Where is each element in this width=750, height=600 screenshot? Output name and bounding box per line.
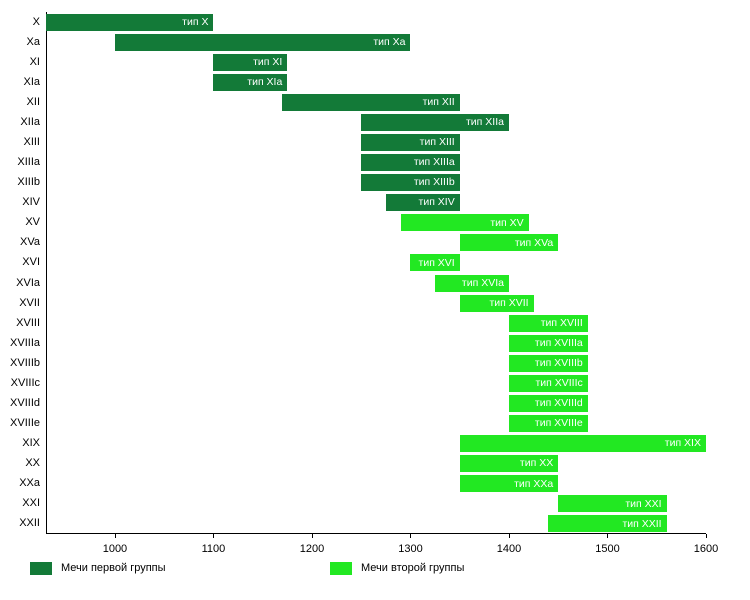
bar-label-XVIIIc: тип XVIIIc	[535, 378, 582, 389]
y-axis-label-XVIIId: XVIIId	[10, 398, 40, 409]
y-axis-label-XIII: XIII	[23, 137, 40, 148]
bar-label-XVIIIb: тип XVIIIb	[535, 358, 583, 369]
bar-label-XXII: тип XXII	[622, 519, 661, 530]
x-tick-mark-1000	[115, 534, 116, 538]
y-axis-label-X: X	[33, 17, 40, 28]
bar-XX[interactable]: тип XX	[460, 455, 559, 472]
bar-Xa[interactable]: тип Xa	[115, 34, 411, 51]
bar-label-XIV: тип XIV	[419, 197, 455, 208]
x-tick-label-1100: 1100	[193, 544, 233, 555]
chart-legend: Мечи первой группы Мечи второй группы	[0, 556, 750, 580]
bar-label-XII: тип XII	[423, 97, 455, 108]
legend-swatch-first-group	[30, 562, 52, 575]
y-axis-label-XVIIIa: XVIIIa	[10, 338, 40, 349]
x-tick-label-1600: 1600	[686, 544, 726, 555]
bar-XVII[interactable]: тип XVII	[460, 295, 534, 312]
bar-XV[interactable]: тип XV	[401, 214, 529, 231]
bar-X[interactable]: тип X	[46, 14, 213, 31]
x-tick-mark-1400	[509, 534, 510, 538]
x-tick-label-1300: 1300	[390, 544, 430, 555]
y-axis-label-XVIa: XVIa	[16, 278, 40, 289]
bar-label-XVIIIa: тип XVIIIa	[535, 338, 583, 349]
bar-label-XIX: тип XIX	[665, 438, 701, 449]
y-axis-label-XIa: XIa	[23, 77, 40, 88]
bar-XVIIIb[interactable]: тип XVIIIb	[509, 355, 588, 372]
y-axis-label-XVIIIe: XVIIIe	[10, 418, 40, 429]
bar-label-XIIIa: тип XIIIa	[414, 157, 455, 168]
bar-label-XI: тип XI	[253, 57, 282, 68]
y-axis-label-XII: XII	[27, 97, 40, 108]
y-axis-label-XXa: XXa	[19, 478, 40, 489]
legend-label-first-group: Мечи первой группы	[61, 563, 166, 574]
y-axis-label-XVIII: XVIII	[16, 318, 40, 329]
y-axis-label-XVIIIb: XVIIIb	[10, 358, 40, 369]
y-axis-label-XVa: XVa	[20, 237, 40, 248]
bar-XIII[interactable]: тип XIII	[361, 134, 460, 151]
bar-XVIa[interactable]: тип XVIa	[435, 275, 509, 292]
bar-label-XVIIIe: тип XVIIIe	[535, 418, 583, 429]
legend-item-0: Мечи первой группы	[30, 560, 166, 576]
bar-XIV[interactable]: тип XIV	[386, 194, 460, 211]
gantt-chart: XXaXIXIaXIIXIIaXIIIXIIIaXIIIbXIVXVXVaXVI…	[0, 0, 750, 600]
y-axis-label-XIIIb: XIIIb	[17, 177, 40, 188]
x-tick-label-1200: 1200	[292, 544, 332, 555]
bar-XVIII[interactable]: тип XVIII	[509, 315, 588, 332]
legend-item-1: Мечи второй группы	[330, 560, 464, 576]
x-tick-label-1500: 1500	[587, 544, 627, 555]
bar-XIX[interactable]: тип XIX	[460, 435, 706, 452]
y-axis-label-XIV: XIV	[22, 197, 40, 208]
y-axis-label-XIX: XIX	[22, 438, 40, 449]
y-axis-label-XV: XV	[25, 217, 40, 228]
bar-label-XVI: тип XVI	[419, 258, 455, 269]
bar-XVIIIc[interactable]: тип XVIIIc	[509, 375, 588, 392]
bar-label-XXI: тип XXI	[625, 499, 661, 510]
bar-label-XIIIb: тип XIIIb	[414, 177, 455, 188]
bar-XI[interactable]: тип XI	[213, 54, 287, 71]
bar-XVIIIe[interactable]: тип XVIIIe	[509, 415, 588, 432]
bar-label-XVIIId: тип XVIIId	[535, 398, 583, 409]
bar-XXII[interactable]: тип XXII	[548, 515, 666, 532]
legend-label-second-group: Мечи второй группы	[361, 563, 464, 574]
y-axis-label-XVII: XVII	[19, 298, 40, 309]
x-tick-label-1000: 1000	[95, 544, 135, 555]
bar-label-XXa: тип XXa	[514, 479, 553, 490]
y-axis-label-XX: XX	[25, 458, 40, 469]
bar-label-XVII: тип XVII	[489, 298, 528, 309]
bar-label-XIa: тип XIa	[247, 77, 282, 88]
y-axis-label-XVIIIc: XVIIIc	[11, 378, 40, 389]
y-axis-label-XI: XI	[30, 57, 40, 68]
bar-label-XV: тип XV	[490, 218, 523, 229]
bar-XVIIId[interactable]: тип XVIIId	[509, 395, 588, 412]
bar-XIIIa[interactable]: тип XIIIa	[361, 154, 460, 171]
bar-XIa[interactable]: тип XIa	[213, 74, 287, 91]
bar-label-XVIII: тип XVIII	[541, 318, 583, 329]
y-axis-label-XIIIa: XIIIa	[17, 157, 40, 168]
bar-label-X: тип X	[182, 17, 208, 28]
x-tick-mark-1100	[213, 534, 214, 538]
y-axis-label-XIIa: XIIa	[20, 117, 40, 128]
x-tick-mark-1200	[312, 534, 313, 538]
bar-label-XVIa: тип XVIa	[462, 278, 504, 289]
bar-label-XIII: тип XIII	[420, 137, 455, 148]
bar-XXI[interactable]: тип XXI	[558, 495, 666, 512]
y-axis-category-labels: XXaXIXIaXIIXIIaXIIIXIIIaXIIIbXIVXVXVaXVI…	[0, 12, 44, 534]
plot-area: тип Xтип Xaтип XIтип XIaтип XIIтип XIIaт…	[46, 12, 706, 534]
bar-XIIa[interactable]: тип XIIa	[361, 114, 509, 131]
y-axis-line	[46, 12, 47, 534]
bar-label-XIIa: тип XIIa	[466, 117, 504, 128]
x-tick-label-1400: 1400	[489, 544, 529, 555]
x-tick-mark-1500	[607, 534, 608, 538]
x-tick-mark-1300	[410, 534, 411, 538]
y-axis-label-XXII: XXII	[19, 518, 40, 529]
bar-label-Xa: тип Xa	[373, 37, 405, 48]
bar-XVa[interactable]: тип XVa	[460, 234, 559, 251]
y-axis-label-XXI: XXI	[22, 498, 40, 509]
legend-swatch-second-group	[330, 562, 352, 575]
bar-XII[interactable]: тип XII	[282, 94, 459, 111]
bar-XVIIIa[interactable]: тип XVIIIa	[509, 335, 588, 352]
bar-label-XVa: тип XVa	[515, 238, 553, 249]
y-axis-label-XVI: XVI	[22, 257, 40, 268]
bar-XIIIb[interactable]: тип XIIIb	[361, 174, 460, 191]
bar-label-XX: тип XX	[520, 458, 553, 469]
y-axis-label-Xa: Xa	[27, 37, 40, 48]
bar-XVI[interactable]: тип XVI	[410, 254, 459, 271]
bar-XXa[interactable]: тип XXa	[460, 475, 559, 492]
x-tick-mark-1600	[706, 534, 707, 538]
